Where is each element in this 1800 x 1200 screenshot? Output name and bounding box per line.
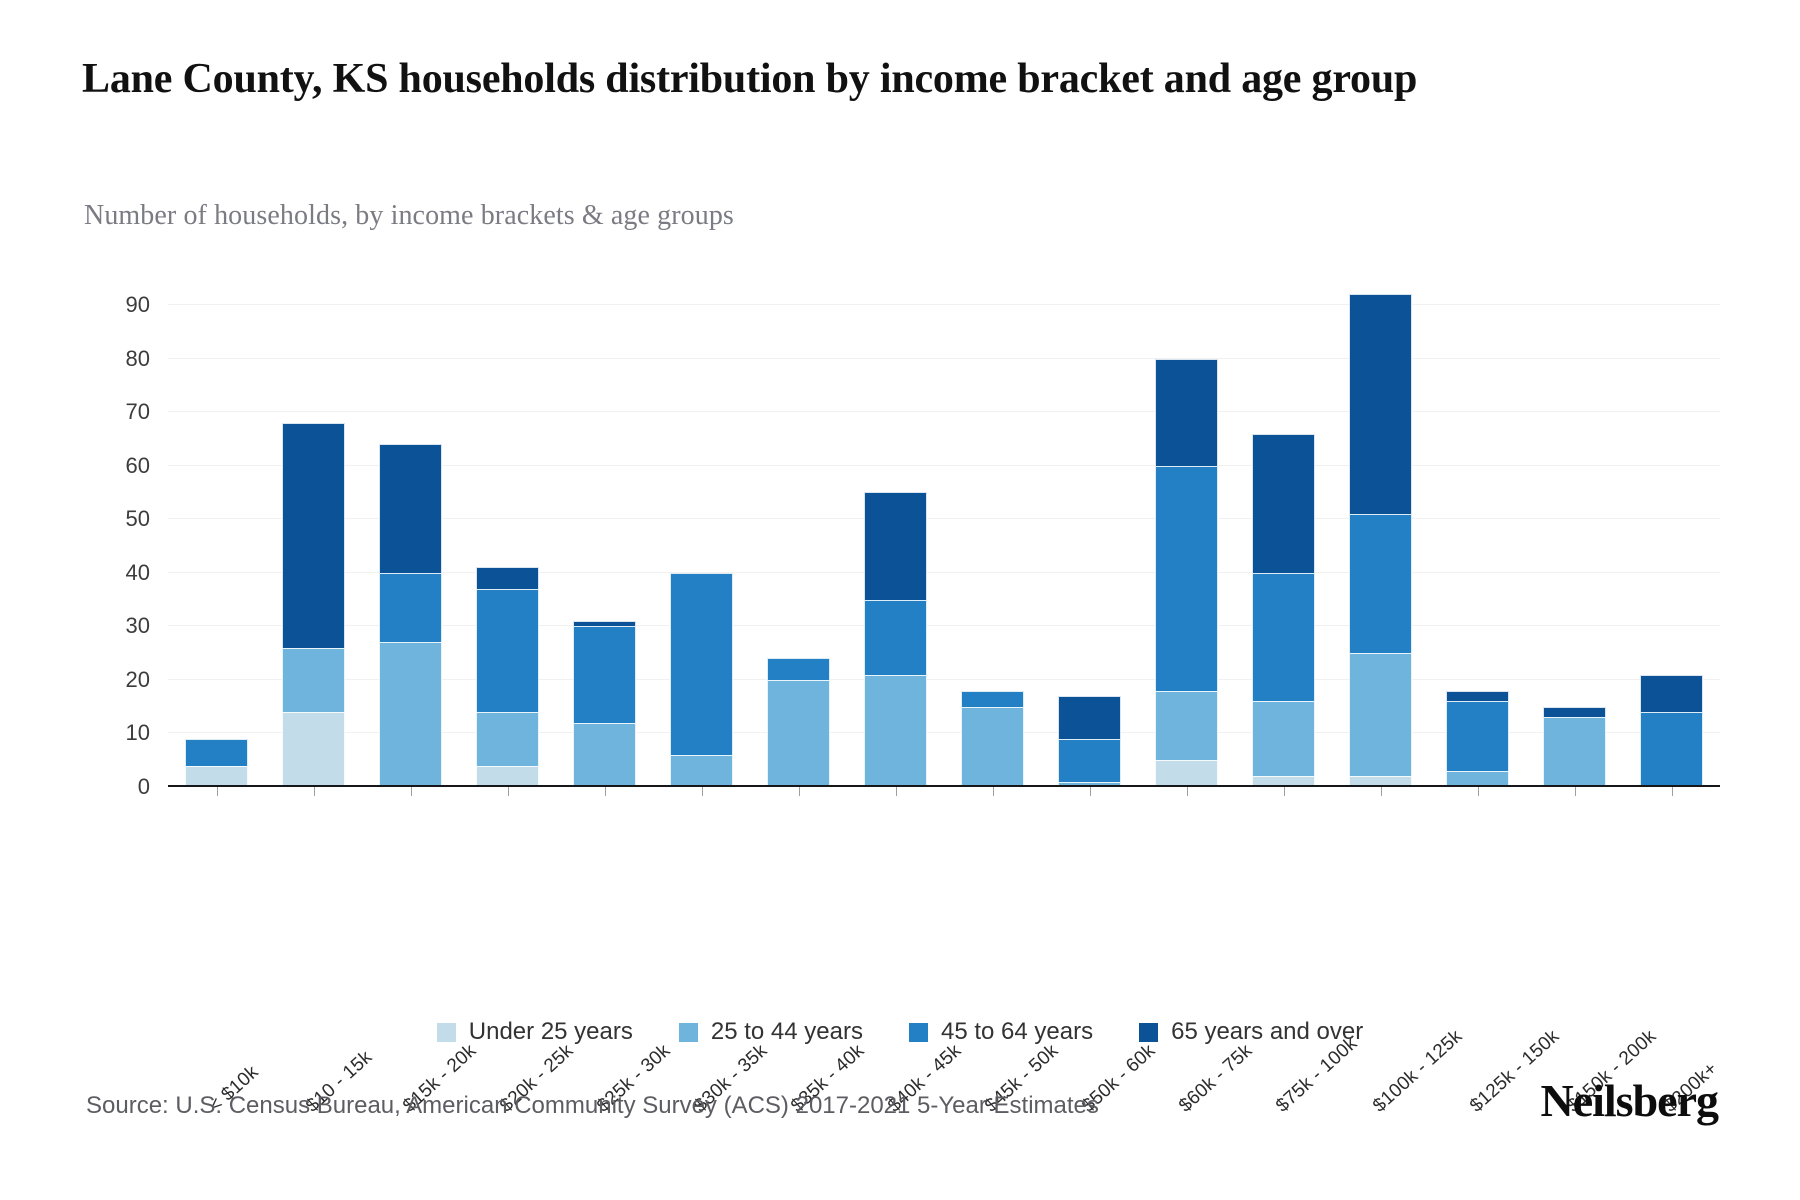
bar-segment[interactable] bbox=[1058, 696, 1122, 739]
y-axis-tick-label: 60 bbox=[90, 453, 150, 479]
bar-7[interactable] bbox=[767, 658, 831, 787]
legend-swatch-icon bbox=[437, 1023, 456, 1042]
bar-segment[interactable] bbox=[476, 589, 540, 712]
x-axis-tick bbox=[508, 787, 509, 796]
x-axis-tick bbox=[1672, 787, 1673, 796]
bar-segment[interactable] bbox=[1446, 691, 1510, 702]
bar-segment[interactable] bbox=[1543, 717, 1607, 787]
bar-segment[interactable] bbox=[1446, 701, 1510, 771]
bar-segment[interactable] bbox=[961, 691, 1025, 707]
bar-segment[interactable] bbox=[379, 573, 443, 643]
legend-item-1[interactable]: Under 25 years bbox=[437, 1018, 633, 1046]
bar-segment[interactable] bbox=[1640, 675, 1704, 712]
bar-segment[interactable] bbox=[1349, 514, 1413, 653]
brand-logo: Neilsberg bbox=[1540, 1074, 1718, 1127]
bar-10[interactable] bbox=[1058, 696, 1122, 787]
x-axis-line bbox=[168, 785, 1720, 787]
bar-segment[interactable] bbox=[1349, 294, 1413, 514]
bar-segment[interactable] bbox=[185, 766, 249, 787]
x-axis-tick bbox=[1575, 787, 1576, 796]
gridline bbox=[168, 304, 1720, 305]
bar-segment[interactable] bbox=[282, 712, 346, 787]
bar-3[interactable] bbox=[379, 444, 443, 787]
gridline bbox=[168, 358, 1720, 359]
bar-segment[interactable] bbox=[185, 739, 249, 766]
bar-1[interactable] bbox=[185, 739, 249, 787]
gridline bbox=[168, 411, 1720, 412]
bar-15[interactable] bbox=[1543, 707, 1607, 787]
legend-label: 25 to 44 years bbox=[711, 1018, 863, 1046]
bar-segment[interactable] bbox=[282, 423, 346, 648]
bar-segment[interactable] bbox=[670, 755, 734, 787]
y-axis-tick-label: 90 bbox=[90, 292, 150, 318]
chart-legend: Under 25 years25 to 44 years45 to 64 yea… bbox=[0, 1018, 1800, 1046]
bar-segment[interactable] bbox=[476, 567, 540, 588]
source-note: Source: U.S. Census Bureau, American Com… bbox=[86, 1092, 1099, 1120]
y-axis-tick-label: 30 bbox=[90, 613, 150, 639]
x-axis-tick bbox=[993, 787, 994, 796]
bar-9[interactable] bbox=[961, 691, 1025, 787]
bar-11[interactable] bbox=[1155, 359, 1219, 787]
x-axis-tick bbox=[1187, 787, 1188, 796]
x-axis-tick bbox=[411, 787, 412, 796]
x-axis-tick bbox=[605, 787, 606, 796]
bar-2[interactable] bbox=[282, 423, 346, 787]
x-axis-tick bbox=[314, 787, 315, 796]
bar-segment[interactable] bbox=[573, 621, 637, 626]
bar-segment[interactable] bbox=[864, 600, 928, 675]
bar-segment[interactable] bbox=[1349, 653, 1413, 776]
bar-segment[interactable] bbox=[573, 723, 637, 787]
x-axis-tick-label: $60k - 75k bbox=[1175, 1040, 1257, 1117]
bar-14[interactable] bbox=[1446, 691, 1510, 787]
bar-6[interactable] bbox=[670, 573, 734, 787]
bar-segment[interactable] bbox=[767, 680, 831, 787]
bar-segment[interactable] bbox=[1155, 760, 1219, 787]
legend-item-3[interactable]: 45 to 64 years bbox=[909, 1018, 1093, 1046]
chart-page: Lane County, KS households distribution … bbox=[0, 0, 1800, 1200]
bar-segment[interactable] bbox=[282, 648, 346, 712]
bar-segment[interactable] bbox=[864, 675, 928, 787]
bar-13[interactable] bbox=[1349, 294, 1413, 787]
legend-label: Under 25 years bbox=[469, 1018, 633, 1046]
bar-segment[interactable] bbox=[864, 492, 928, 599]
y-axis-tick-label: 0 bbox=[90, 774, 150, 800]
bar-segment[interactable] bbox=[1543, 707, 1607, 718]
x-axis-tick bbox=[1284, 787, 1285, 796]
bar-segment[interactable] bbox=[670, 573, 734, 755]
bar-segment[interactable] bbox=[961, 707, 1025, 787]
bar-segment[interactable] bbox=[1640, 712, 1704, 787]
y-axis-tick-label: 20 bbox=[90, 667, 150, 693]
legend-swatch-icon bbox=[679, 1023, 698, 1042]
x-axis-tick bbox=[1090, 787, 1091, 796]
x-axis-tick bbox=[1381, 787, 1382, 796]
bar-segment[interactable] bbox=[1058, 739, 1122, 782]
bar-segment[interactable] bbox=[379, 642, 443, 787]
bar-segment[interactable] bbox=[573, 626, 637, 722]
legend-swatch-icon bbox=[909, 1023, 928, 1042]
legend-item-4[interactable]: 65 years and over bbox=[1139, 1018, 1363, 1046]
bar-4[interactable] bbox=[476, 567, 540, 787]
legend-item-2[interactable]: 25 to 44 years bbox=[679, 1018, 863, 1046]
y-axis-tick-label: 10 bbox=[90, 720, 150, 746]
x-axis-tick bbox=[1478, 787, 1479, 796]
legend-label: 65 years and over bbox=[1171, 1018, 1363, 1046]
bar-segment[interactable] bbox=[1155, 466, 1219, 691]
bar-16[interactable] bbox=[1640, 675, 1704, 787]
bar-segment[interactable] bbox=[1155, 359, 1219, 466]
x-axis-tick bbox=[799, 787, 800, 796]
x-axis-tick bbox=[702, 787, 703, 796]
bar-segment[interactable] bbox=[476, 766, 540, 787]
bar-segment[interactable] bbox=[1155, 691, 1219, 761]
legend-swatch-icon bbox=[1139, 1023, 1158, 1042]
y-axis-tick-label: 70 bbox=[90, 399, 150, 425]
bar-segment[interactable] bbox=[1252, 701, 1316, 776]
bar-segment[interactable] bbox=[1252, 434, 1316, 573]
bar-5[interactable] bbox=[573, 621, 637, 787]
plot-area: 0102030405060708090 < $10k$10 - 15k$15k … bbox=[168, 305, 1720, 787]
bar-segment[interactable] bbox=[1252, 573, 1316, 702]
x-axis-tick bbox=[217, 787, 218, 796]
y-axis-tick-label: 40 bbox=[90, 560, 150, 586]
y-axis-tick-label: 50 bbox=[90, 506, 150, 532]
y-axis-tick-label: 80 bbox=[90, 346, 150, 372]
legend-label: 45 to 64 years bbox=[941, 1018, 1093, 1046]
x-axis-tick bbox=[896, 787, 897, 796]
bar-segment[interactable] bbox=[767, 658, 831, 679]
bar-8[interactable] bbox=[864, 492, 928, 787]
bar-12[interactable] bbox=[1252, 434, 1316, 787]
bar-segment[interactable] bbox=[476, 712, 540, 766]
bar-segment[interactable] bbox=[379, 444, 443, 573]
